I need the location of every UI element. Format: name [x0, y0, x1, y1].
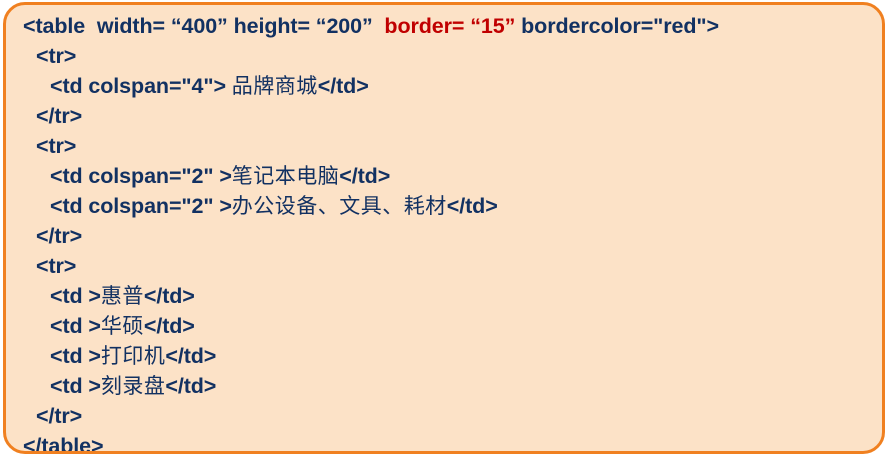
code-line: <td >惠普</td>: [6, 281, 882, 311]
code-snippet-panel: <table width= “400” height= “200” border…: [3, 2, 885, 454]
code-token: </table>: [23, 434, 103, 454]
code-token: <td colspan="2" >: [50, 164, 232, 188]
code-token: <table width= “400” height= “200”: [23, 14, 384, 38]
code-token: </tr>: [36, 104, 82, 128]
code-line: <tr>: [6, 251, 882, 281]
code-text-literal: 品牌商城: [232, 74, 318, 98]
code-token: </td>: [339, 164, 390, 188]
code-text-literal: 华硕: [101, 314, 144, 338]
code-token: bordercolor="red">: [515, 14, 719, 38]
code-token: <td colspan="2" >: [50, 194, 232, 218]
code-token: </tr>: [36, 404, 82, 428]
code-line: <td >华硕</td>: [6, 311, 882, 341]
code-token: <td >: [50, 374, 101, 398]
code-token: </tr>: [36, 224, 82, 248]
code-line: <tr>: [6, 41, 882, 71]
code-token: </td>: [144, 314, 195, 338]
code-token: <td >: [50, 284, 101, 308]
code-token: </td>: [165, 344, 216, 368]
code-text-literal: 刻录盘: [101, 374, 166, 398]
code-line: <td >刻录盘</td>: [6, 371, 882, 401]
code-text-literal: 办公设备、文具、耗材: [232, 194, 447, 218]
code-line: </tr>: [6, 401, 882, 431]
code-text-literal: 笔记本电脑: [232, 164, 340, 188]
code-listing: <table width= “400” height= “200” border…: [6, 11, 882, 454]
code-token: <td >: [50, 314, 101, 338]
code-line: <td colspan="2" >笔记本电脑</td>: [6, 161, 882, 191]
code-token: <td >: [50, 344, 101, 368]
code-line: <td colspan="4"> 品牌商城</td>: [6, 71, 882, 101]
code-token: </td>: [165, 374, 216, 398]
code-line: </table>: [6, 431, 882, 454]
code-line: </tr>: [6, 101, 882, 131]
code-token: <tr>: [36, 134, 76, 158]
code-line: <tr>: [6, 131, 882, 161]
code-line: <td colspan="2" >办公设备、文具、耗材</td>: [6, 191, 882, 221]
code-token: </td>: [318, 74, 369, 98]
code-token: <td colspan="4">: [50, 74, 232, 98]
code-line: <table width= “400” height= “200” border…: [6, 11, 882, 41]
code-line: </tr>: [6, 221, 882, 251]
code-token-highlighted: border= “15”: [384, 14, 515, 38]
code-text-literal: 打印机: [101, 344, 166, 368]
code-token: </td>: [447, 194, 498, 218]
code-token: <tr>: [36, 44, 76, 68]
code-token: </td>: [144, 284, 195, 308]
code-line: <td >打印机</td>: [6, 341, 882, 371]
code-text-literal: 惠普: [101, 284, 144, 308]
code-token: <tr>: [36, 254, 76, 278]
